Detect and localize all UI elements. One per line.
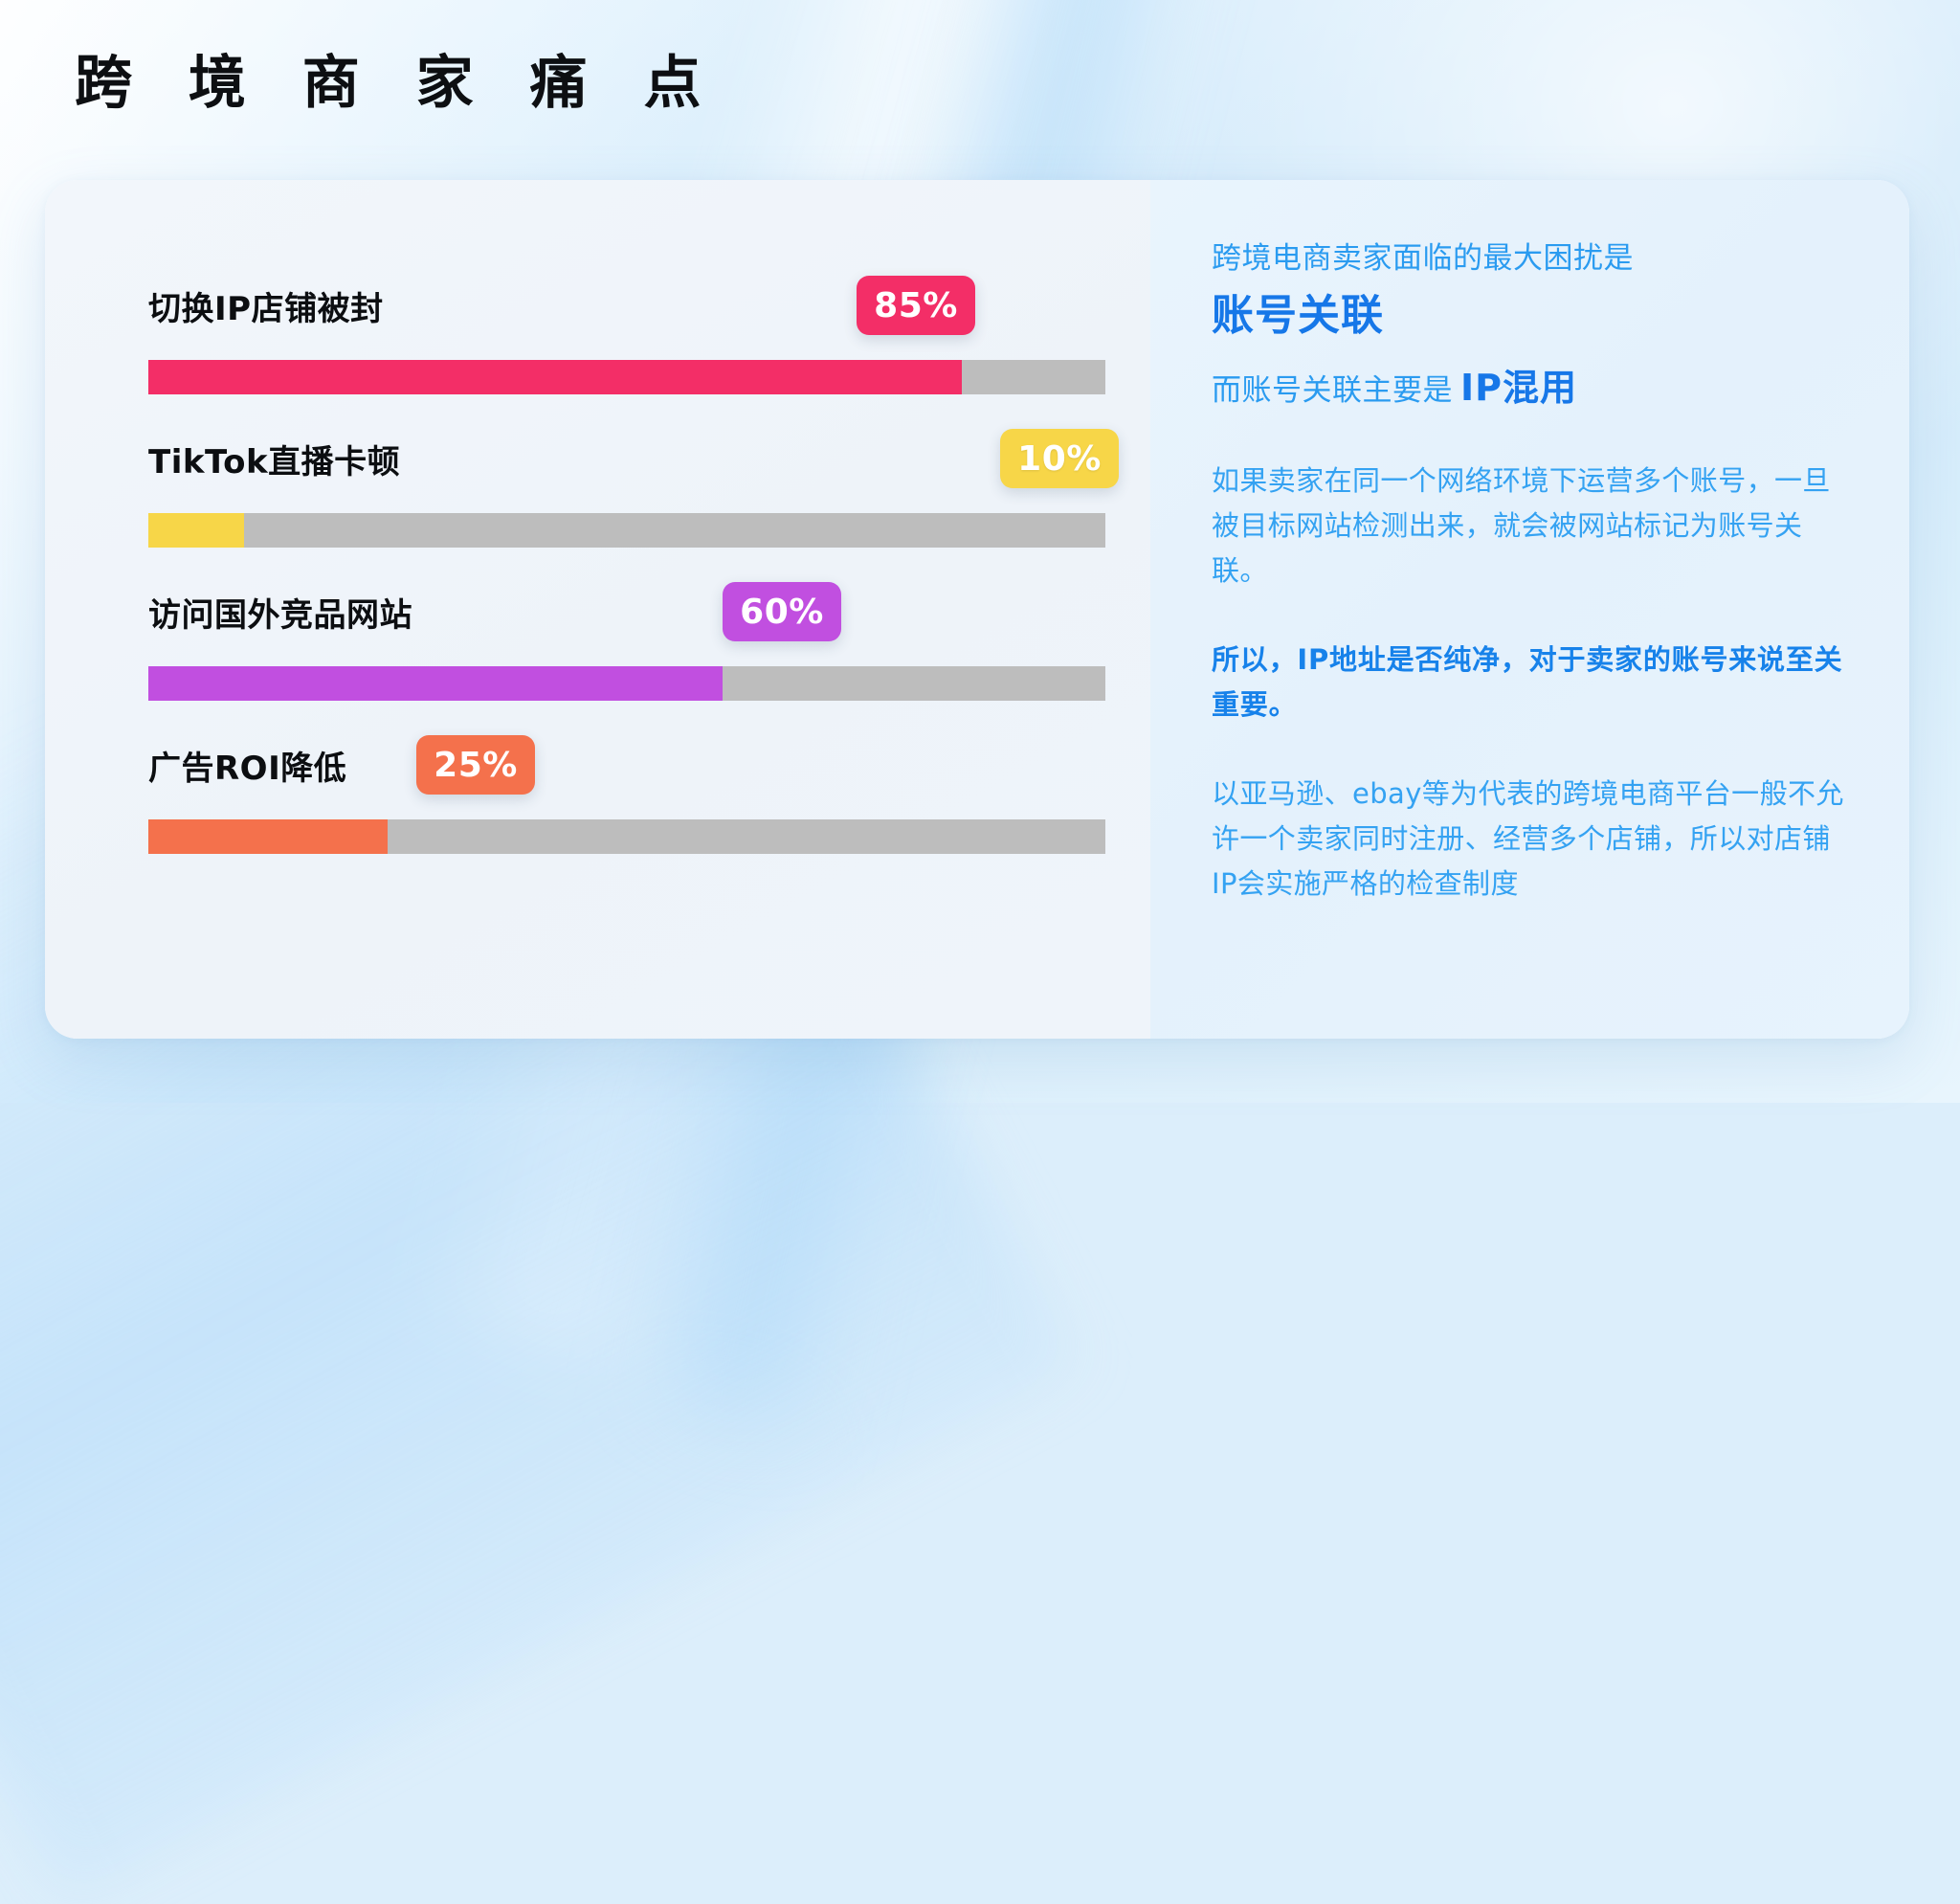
- bar-header: 广告ROI降低25%: [148, 716, 1105, 808]
- bar-label: 广告ROI降低: [148, 742, 346, 789]
- bar-value-badge: 85%: [857, 276, 975, 335]
- panel-paragraph-3: 以亚马逊、ebay等为代表的跨境电商平台一般不允许一个卖家同时注册、经营多个店铺…: [1212, 772, 1854, 907]
- bar-track: [148, 666, 1105, 701]
- bar-header: 切换IP店铺被封85%: [148, 257, 1105, 348]
- bar-header: 访问国外竞品网站60%: [148, 563, 1105, 655]
- info-panel: 跨境电商卖家面临的最大困扰是 账号关联 而账号关联主要是IP混用 如果卖家在同一…: [1150, 180, 1909, 1039]
- bar-track: [148, 360, 1105, 394]
- chart-panel: 切换IP店铺被封85%TikTok直播卡顿10%访问国外竞品网站60%广告ROI…: [45, 180, 1150, 1039]
- panel-headline: 账号关联: [1212, 288, 1854, 345]
- bar-label: 切换IP店铺被封: [148, 282, 384, 329]
- panel-subline: 而账号关联主要是IP混用: [1212, 362, 1854, 414]
- panel-paragraph-1: 如果卖家在同一个网络环境下运营多个账号，一旦被目标网站检测出来，就会被网站标记为…: [1212, 459, 1854, 594]
- bar-label: TikTok直播卡顿: [148, 436, 400, 482]
- panel-subline-emphasis: IP混用: [1460, 367, 1577, 409]
- bar-chart: 切换IP店铺被封85%TikTok直播卡顿10%访问国外竞品网站60%广告ROI…: [148, 257, 1105, 869]
- bar-row: 广告ROI降低25%: [148, 716, 1105, 869]
- bar-value-badge: 25%: [416, 735, 535, 795]
- panel-lead-text: 跨境电商卖家面临的最大困扰是: [1212, 237, 1854, 280]
- bar-fill: [148, 360, 962, 394]
- bar-value-badge: 60%: [723, 582, 841, 641]
- bar-track: [148, 819, 1105, 854]
- panel-paragraph-2: 所以，IP地址是否纯净，对于卖家的账号来说至关重要。: [1212, 638, 1854, 728]
- page-title: 跨 境 商 家 痛 点: [75, 55, 719, 112]
- bar-row: TikTok直播卡顿10%: [148, 410, 1105, 563]
- bar-track: [148, 513, 1105, 548]
- bar-fill: [148, 819, 388, 854]
- bar-header: TikTok直播卡顿10%: [148, 410, 1105, 502]
- bar-row: 访问国外竞品网站60%: [148, 563, 1105, 716]
- bar-row: 切换IP店铺被封85%: [148, 257, 1105, 410]
- bar-label: 访问国外竞品网站: [148, 589, 412, 636]
- content-card: 切换IP店铺被封85%TikTok直播卡顿10%访问国外竞品网站60%广告ROI…: [45, 180, 1909, 1039]
- bar-fill: [148, 666, 723, 701]
- panel-subline-prefix: 而账号关联主要是: [1212, 373, 1453, 408]
- bar-fill: [148, 513, 244, 548]
- bar-value-badge: 10%: [1000, 429, 1119, 488]
